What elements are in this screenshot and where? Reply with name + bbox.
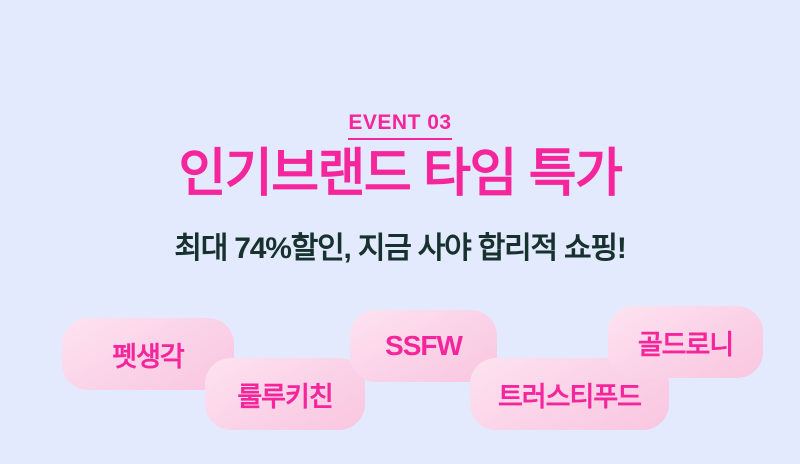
event-label-text: EVENT 03 [348, 110, 451, 140]
brand-pill-label: 룰루키친 [237, 375, 332, 414]
brand-pill[interactable]: 룰루키친 [205, 358, 365, 430]
page-title: 인기브랜드 타임 특가 [0, 143, 800, 205]
brand-pill-label: 골드로니 [638, 323, 733, 362]
event-label: EVENT 03 [0, 110, 800, 140]
brand-pill-label: SSFW [385, 330, 462, 362]
page-subtitle: 최대 74%할인, 지금 사야 합리적 쇼핑! [0, 229, 800, 269]
brand-pill-label: 펫생각 [112, 335, 184, 374]
promo-banner: EVENT 03 인기브랜드 타임 특가 최대 74%할인, 지금 사야 합리적… [0, 0, 800, 464]
brand-pill[interactable]: 골드로니 [608, 306, 763, 378]
brand-pill-label: 트러스티푸드 [498, 375, 641, 414]
brand-pill-list: 펫생각 룰루키친 SSFW 트러스티푸드 골드로니 [0, 300, 800, 464]
